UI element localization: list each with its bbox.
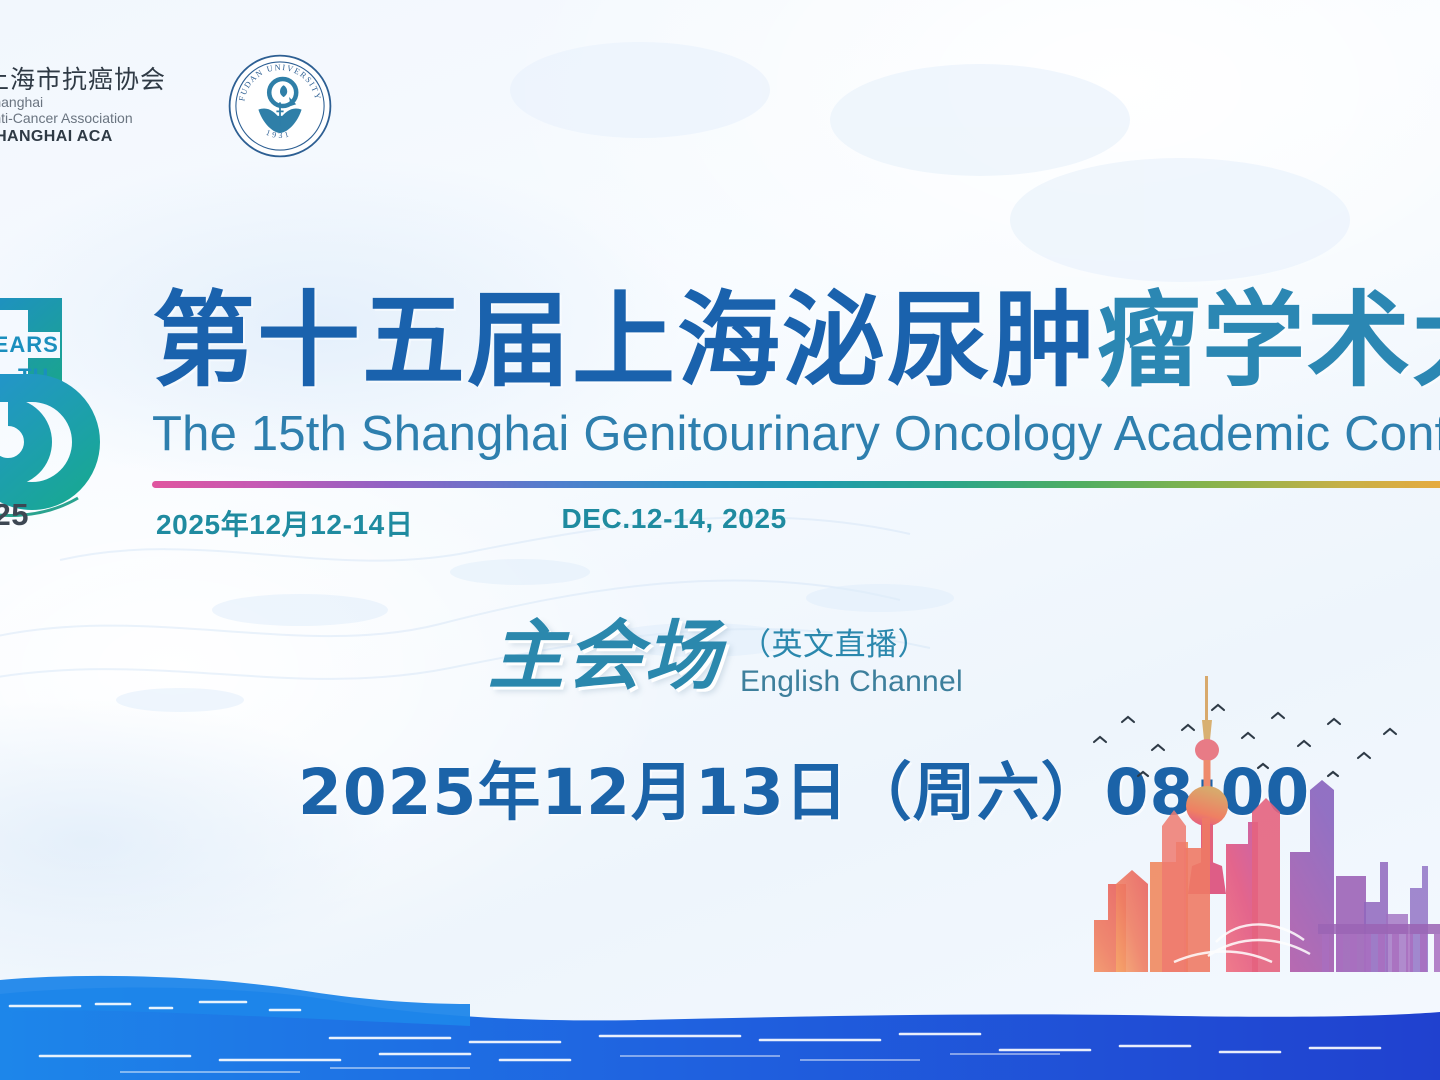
skyline-buildings-right bbox=[1290, 780, 1428, 972]
session-datetime: 2025年12月13日（周六）08:00 bbox=[298, 742, 1310, 833]
title-cn-part-teal: 瘤学术大 bbox=[1097, 281, 1440, 401]
title-block: 第十五届上海泌尿肿瘤学术大 The 15th Shanghai Genitour… bbox=[152, 286, 1440, 461]
aca-name-cn: 上海市抗癌协会 bbox=[0, 66, 166, 94]
logo-row: 上海市抗癌协会 Shanghai Anti-Cancer Association… bbox=[0, 52, 334, 160]
channel-label-cn: （英文直播） bbox=[740, 626, 963, 664]
bund-colonnade bbox=[1318, 924, 1440, 972]
conference-slide: 上海市抗癌协会 Shanghai Anti-Cancer Association… bbox=[0, 0, 1440, 1080]
conference-title-cn: 第十五届上海泌尿肿瘤学术大 bbox=[152, 286, 1440, 397]
aca-name-en-line1: Shanghai bbox=[0, 95, 166, 111]
skyline-buildings-left bbox=[1070, 818, 1210, 972]
title-cn-part-blue: 第十五届上海泌尿肿 bbox=[152, 281, 1097, 401]
conference-title-en: The 15th Shanghai Genitourinary Oncology… bbox=[152, 409, 1440, 460]
main-venue-label: 主会场 bbox=[488, 618, 722, 694]
anniversary-logo: YEARS TH 2025 bbox=[0, 292, 118, 542]
anniversary-year: 2025 bbox=[0, 497, 29, 533]
aca-name-en-line2: Anti-Cancer Association bbox=[0, 111, 166, 127]
svg-text:YEARS: YEARS bbox=[0, 332, 59, 357]
channel-label-en: English Channel bbox=[740, 664, 963, 701]
conference-date-cn: 2025年12月12-14日 bbox=[156, 503, 413, 543]
rainbow-divider bbox=[152, 481, 1440, 488]
conference-date-en: DEC.12-14, 2025 bbox=[561, 503, 786, 543]
conference-dates: 2025年12月12-14日 DEC.12-14, 2025 bbox=[156, 503, 787, 543]
aca-abbreviation: SHANGHAI ACA bbox=[0, 128, 166, 146]
session-block: 主会场 （英文直播） English Channel bbox=[488, 618, 963, 700]
shanghai-aca-logo: 上海市抗癌协会 Shanghai Anti-Cancer Association… bbox=[0, 66, 166, 145]
fudan-shanghai-cancer-center-seal-icon: FUDAN UNIVERSITY SHANGHAI CANCER CENTER … bbox=[226, 52, 334, 160]
aca-logo-text: 上海市抗癌协会 Shanghai Anti-Cancer Association… bbox=[0, 66, 166, 145]
blue-brushstroke-water bbox=[0, 960, 1440, 1080]
shanghai-skyline-watercolor bbox=[1066, 672, 1440, 1002]
channel-label-group: （英文直播） English Channel bbox=[740, 618, 963, 700]
